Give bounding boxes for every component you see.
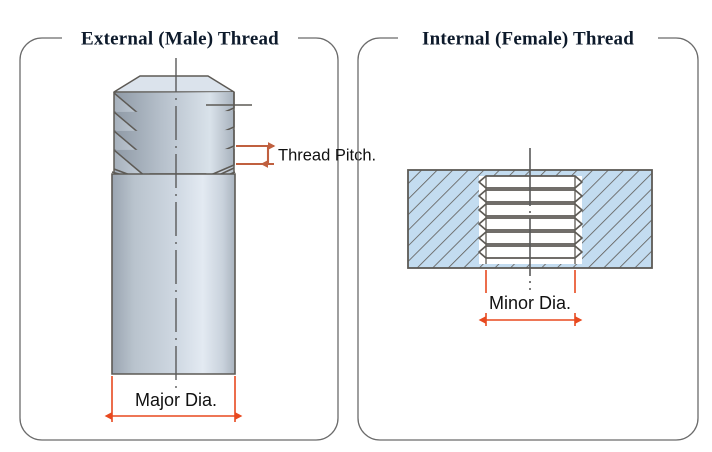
- shank-body: [112, 174, 235, 374]
- panel-internal-thread: Internal (Female) Thread: [358, 28, 698, 440]
- thread-diagram: External (Male) Thread: [0, 0, 712, 452]
- dimension-major-diameter: Major Dia.: [112, 376, 235, 422]
- panel-external-thread: External (Male) Thread: [20, 28, 376, 440]
- major-dia-label: Major Dia.: [135, 390, 217, 410]
- dimension-thread-pitch: Thread Pitch.: [236, 146, 376, 164]
- panel-title-internal: Internal (Female) Thread: [422, 28, 634, 49]
- dimension-minor-diameter: Minor Dia.: [484, 270, 578, 326]
- bolt-thread-region: [112, 76, 252, 182]
- bolt-shank: [112, 174, 235, 374]
- thread-pitch-label: Thread Pitch.: [278, 146, 376, 164]
- thread-diagram-canvas: External (Male) Thread: [0, 0, 712, 452]
- panel-title-external: External (Male) Thread: [81, 28, 279, 49]
- minor-dia-label: Minor Dia.: [489, 293, 571, 313]
- thread-top-chamfer: [114, 76, 234, 92]
